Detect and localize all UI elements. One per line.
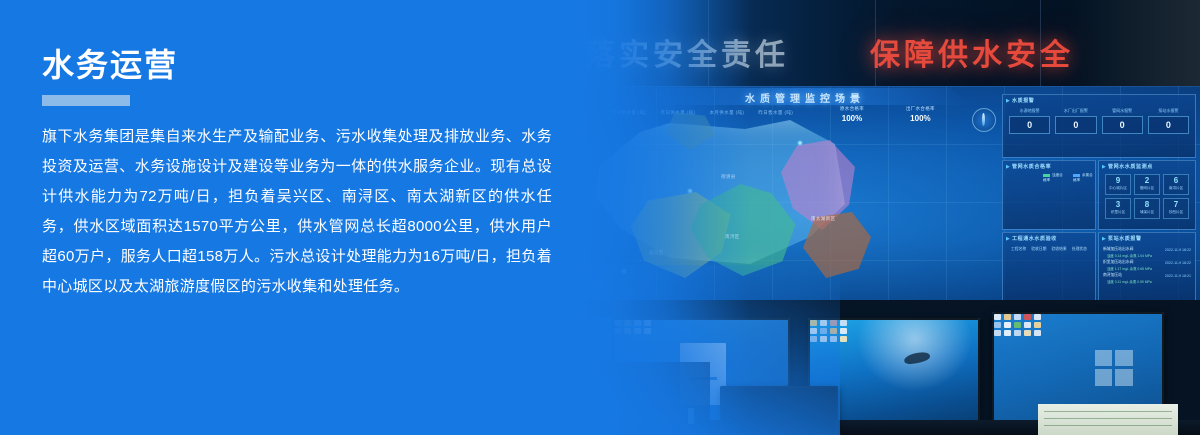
page-title: 水务运营	[42, 48, 552, 83]
section-body-text: 旗下水务集团是集自来水生产及输配业务、污水收集处理及排放业务、水务投资及运营、水…	[42, 122, 552, 302]
water-operations-banner: 落实安全责任 保障供水安全 水质管理监控场景 年计划水量 (万吨) 今日供水量 …	[0, 0, 1200, 435]
control-room-photo: 落实安全责任 保障供水安全 水质管理监控场景 年计划水量 (万吨) 今日供水量 …	[540, 0, 1200, 435]
copy-block: 水务运营 旗下水务集团是集自来水生产及输配业务、污水收集处理及排放业务、水务投资…	[42, 48, 552, 302]
photo-bottomleft-fade	[540, 265, 840, 435]
title-underline	[42, 95, 130, 106]
